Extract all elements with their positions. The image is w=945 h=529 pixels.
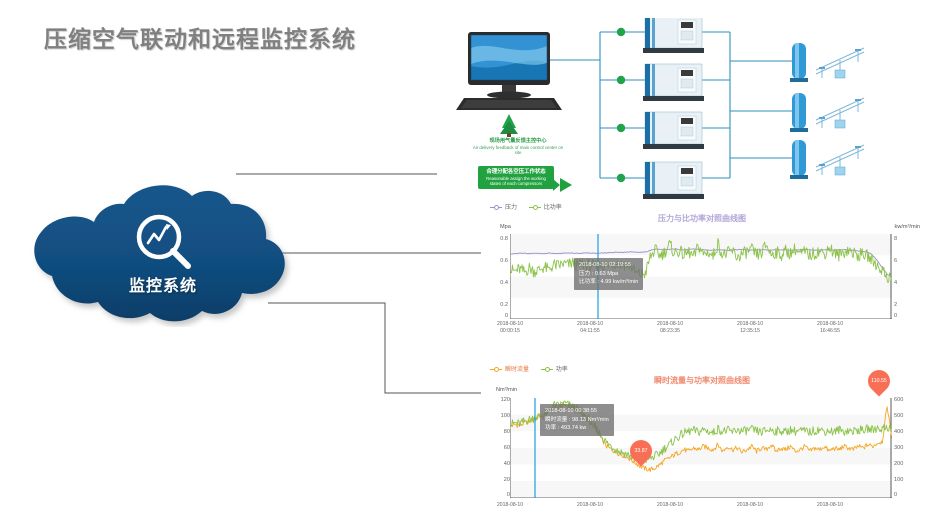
x-tick: 2018-08-10 12:35:15	[720, 321, 780, 335]
y-tick: 0.4	[488, 280, 508, 286]
tooltip-line: 瞬时流量 : 98.13 Nm³/min	[545, 416, 609, 425]
x-tick: 2018-08-10	[640, 502, 700, 509]
assign-status-note-en: Reasonable assign the working states of …	[480, 176, 552, 187]
chart-1-plot[interactable]	[510, 234, 892, 319]
x-tick: 2018-08-10	[720, 502, 780, 509]
y2-tick: 6	[894, 258, 910, 264]
x-tick-date: 2018-08-10	[640, 502, 700, 509]
y-tick: 0	[488, 313, 508, 319]
legend-item-specific-power[interactable]: 比功率	[529, 202, 562, 211]
desktop-computer-icon	[456, 32, 562, 110]
connector-to-chart-2	[268, 303, 481, 393]
chart-2-title: 瞬时流量与功率对照曲线图	[482, 375, 922, 386]
x-tick: 2018-08-10 16:46:55	[800, 321, 860, 335]
y2-tick: 0	[894, 492, 916, 498]
tooltip-line: 功率 : 493.74 kw	[545, 424, 609, 433]
y-tick: 0	[484, 492, 510, 498]
monitor-caption-en: Air delivery feedback of main control ce…	[470, 145, 566, 156]
assign-status-note: 合理分配各空压工作状态 Reasonable assign the workin…	[478, 166, 554, 189]
y2-tick: 4	[894, 280, 910, 286]
y-tick: 0.8	[488, 236, 508, 242]
max-value-pin-marker[interactable]: 110.55	[863, 365, 894, 396]
x-tick: 2018-08-10 08:23:35	[640, 321, 700, 335]
min-value-pin-marker[interactable]: 33.87	[625, 435, 656, 466]
y2-tick: 100	[894, 477, 916, 483]
x-tick-date: 2018-08-10	[640, 321, 700, 328]
y-tick: 40	[484, 461, 510, 467]
x-tick: 2018-08-10	[800, 502, 860, 509]
monitor-caption: 现场用气量反馈主控中心 Air delivery feedback of mai…	[470, 138, 566, 156]
x-tick: 2018-08-10	[560, 502, 620, 509]
cloud-label: 监控系统	[28, 272, 298, 296]
y-tick: 0.2	[488, 302, 508, 308]
air-tank-and-piping	[790, 93, 864, 132]
x-tick-time: 16:46:55	[800, 328, 860, 335]
y-tick: 80	[484, 429, 510, 435]
y2-tick: 400	[894, 429, 916, 435]
x-tick-time: 12:35:15	[720, 328, 780, 335]
flow-vs-power-chart[interactable]: 瞬时流量 功率 瞬时流量与功率对照曲线图 Nm³/min 120 100 80 …	[482, 362, 922, 529]
legend-label: 功率	[556, 367, 568, 373]
legend-marker-line-icon	[490, 207, 502, 208]
x-tick-date: 2018-08-10	[480, 502, 540, 509]
chart-2-legend[interactable]: 瞬时流量 功率	[490, 364, 578, 373]
y-tick: 100	[484, 413, 510, 419]
legend-marker-line-icon	[529, 207, 541, 208]
x-tick-time: 08:23:35	[640, 328, 700, 335]
chart-1-title: 压力与比功率对照曲线图	[482, 213, 922, 224]
y2-tick: 300	[894, 445, 916, 451]
air-tank-and-piping	[790, 43, 864, 82]
pressure-vs-specific-power-chart[interactable]: 压力 比功率 压力与比功率对照曲线图 Mpa kw/m³/min 0.8 0.6…	[482, 200, 922, 340]
monitoring-system-cloud[interactable]: 监控系统	[28, 182, 298, 327]
y-tick: 0.6	[488, 258, 508, 264]
tooltip-timestamp: 2018-08-10 02:19:55	[579, 261, 638, 270]
y2-tick: 200	[894, 461, 916, 467]
tree-icon	[500, 114, 518, 137]
legend-label: 压力	[505, 205, 517, 211]
chart-2-y-axis-unit: Nm³/min	[496, 387, 517, 393]
air-compressor-unit	[643, 64, 704, 101]
network-links	[550, 32, 792, 178]
y-tick: 120	[484, 397, 510, 403]
legend-marker-line-icon	[490, 369, 502, 370]
y-tick: 60	[484, 445, 510, 451]
x-tick-time: 00:00:15	[480, 328, 540, 335]
y2-tick: 0	[894, 313, 910, 319]
tooltip-line: 比功率 : 4.99 kw/m³/min	[579, 278, 638, 287]
x-tick-date: 2018-08-10	[720, 321, 780, 328]
assign-status-note-cn: 合理分配各空压工作状态	[480, 169, 552, 176]
legend-label: 瞬时流量	[505, 367, 529, 373]
chart-1-y-axis-unit: Mpa	[500, 224, 511, 230]
legend-marker-line-icon	[541, 369, 553, 370]
tooltip-timestamp: 2018-08-10 00:38:55	[545, 407, 609, 416]
chart-2-tooltip: 2018-08-10 00:38:55 瞬时流量 : 98.13 Nm³/min…	[540, 404, 614, 436]
system-architecture-diagram: 现场用气量反馈主控中心 Air delivery feedback of mai…	[440, 18, 910, 203]
x-tick-time: 04:11:55	[560, 328, 620, 335]
pin-marker-label: 110.55	[868, 370, 890, 392]
legend-label: 比功率	[544, 205, 562, 211]
y2-tick: 500	[894, 413, 916, 419]
compressor-status-nodes	[617, 28, 625, 182]
chart-1-y2-axis-unit: kw/m³/min	[895, 224, 920, 230]
air-compressor-unit	[643, 112, 704, 149]
chart-1-tooltip: 2018-08-10 02:19:55 压力 : 0.63 Mpa 比功率 : …	[574, 258, 643, 290]
y2-tick: 2	[894, 302, 910, 308]
x-tick: 2018-08-10 00:00:15	[480, 321, 540, 335]
chart-1-legend[interactable]: 压力 比功率	[490, 202, 572, 211]
legend-item-power[interactable]: 功率	[541, 364, 568, 373]
air-compressor-unit	[643, 162, 704, 199]
magnifier-chart-icon	[133, 212, 195, 277]
x-tick-date: 2018-08-10	[560, 321, 620, 328]
x-tick-date: 2018-08-10	[800, 502, 860, 509]
legend-item-pressure[interactable]: 压力	[490, 202, 517, 211]
air-compressor-unit	[643, 18, 704, 53]
x-tick: 2018-08-10	[480, 502, 540, 509]
air-tank-and-piping	[790, 140, 864, 179]
y2-tick: 8	[894, 236, 910, 242]
right-arrow-icon	[553, 178, 572, 192]
tooltip-line: 压力 : 0.63 Mpa	[579, 270, 638, 279]
y-tick: 20	[484, 477, 510, 483]
x-tick-date: 2018-08-10	[560, 502, 620, 509]
x-tick-date: 2018-08-10	[480, 321, 540, 328]
pin-marker-label: 33.87	[630, 440, 652, 462]
x-tick: 2018-08-10 04:11:55	[560, 321, 620, 335]
legend-item-instant-flow[interactable]: 瞬时流量	[490, 364, 529, 373]
x-tick-date: 2018-08-10	[800, 321, 860, 328]
x-tick-date: 2018-08-10	[720, 502, 780, 509]
y2-tick: 600	[894, 397, 916, 403]
